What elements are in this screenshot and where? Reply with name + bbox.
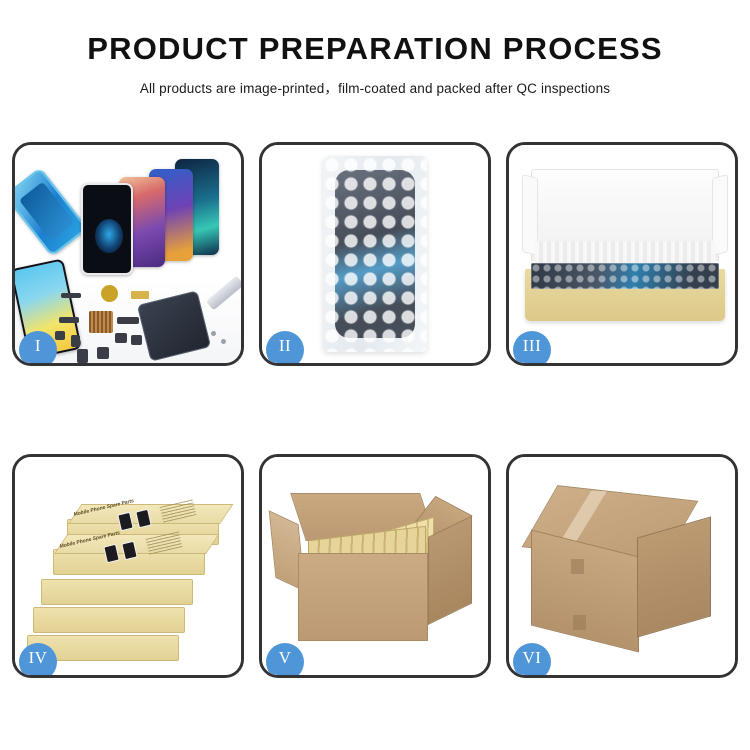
screwdriver-icon [206,276,244,311]
step-badge-4: IV [19,643,57,678]
step-badge-2: II [266,331,304,366]
product-preparation-infographic: PRODUCT PREPARATION PROCESS All products… [0,0,750,750]
step-image-open-carton-with-boxes [262,457,488,675]
step-badge-3: III [513,331,551,366]
step-panel-3: III [506,142,738,366]
phone-screen-black [81,183,133,275]
step-image-phone-screens-and-spare-parts [15,145,241,363]
screw-part-2 [221,339,226,344]
step-panel-6: VI [506,454,738,678]
page-title: PRODUCT PREPARATION PROCESS [0,33,750,66]
step-image-sealed-shipping-carton [509,457,735,675]
flex-cable-part-2 [117,317,139,324]
taptic-coil-part [101,285,118,302]
kraft-box-stack: Mobile Phone Spare Parts Mobile Phone Sp… [23,475,235,671]
step-panel-1: I [12,142,244,366]
carton-hand-hole-1 [571,559,584,574]
wrapped-items-in-box [531,263,719,289]
step-panel-4: Mobile Phone Spare Parts Mobile Phone Sp… [12,454,244,678]
bubble-wrap-pouch [323,156,427,352]
header: PRODUCT PREPARATION PROCESS All products… [0,0,750,97]
step-panel-2: II [259,142,491,366]
step-badge-6: VI [513,643,551,678]
bracket-part-2 [55,331,65,340]
vibrator-part [97,347,109,359]
chip-array-part [89,311,113,333]
button-part [131,335,142,345]
step-badge-5: V [266,643,304,678]
bubble-texture [323,156,427,352]
step-image-bubble-wrap-packaging [262,145,488,363]
step-image-open-kraft-box-with-items [509,145,735,363]
carton-front-face [298,553,428,641]
bracket-part-1 [59,317,79,323]
adhesive-film-icon [12,167,88,257]
process-steps-grid: I II III [12,142,738,678]
step-image-stacked-kraft-boxes: Mobile Phone Spare Parts Mobile Phone Sp… [15,457,241,675]
flex-cable-part-1 [131,291,149,299]
camera-part [71,335,80,347]
sim-tray-part [77,349,88,363]
speaker-mesh-part [61,293,81,298]
kraft-box-4 [33,607,185,633]
screw-part-1 [211,331,216,336]
connector-part [115,333,127,343]
carton-right-face [637,516,711,637]
phone-back-housing [137,290,211,361]
kraft-box-3 [41,579,193,605]
carton-hand-hole-2 [573,615,586,630]
page-subtitle: All products are image-printed，film-coat… [0,77,750,97]
step-panel-5: V [259,454,491,678]
step-badge-1: I [19,331,57,366]
